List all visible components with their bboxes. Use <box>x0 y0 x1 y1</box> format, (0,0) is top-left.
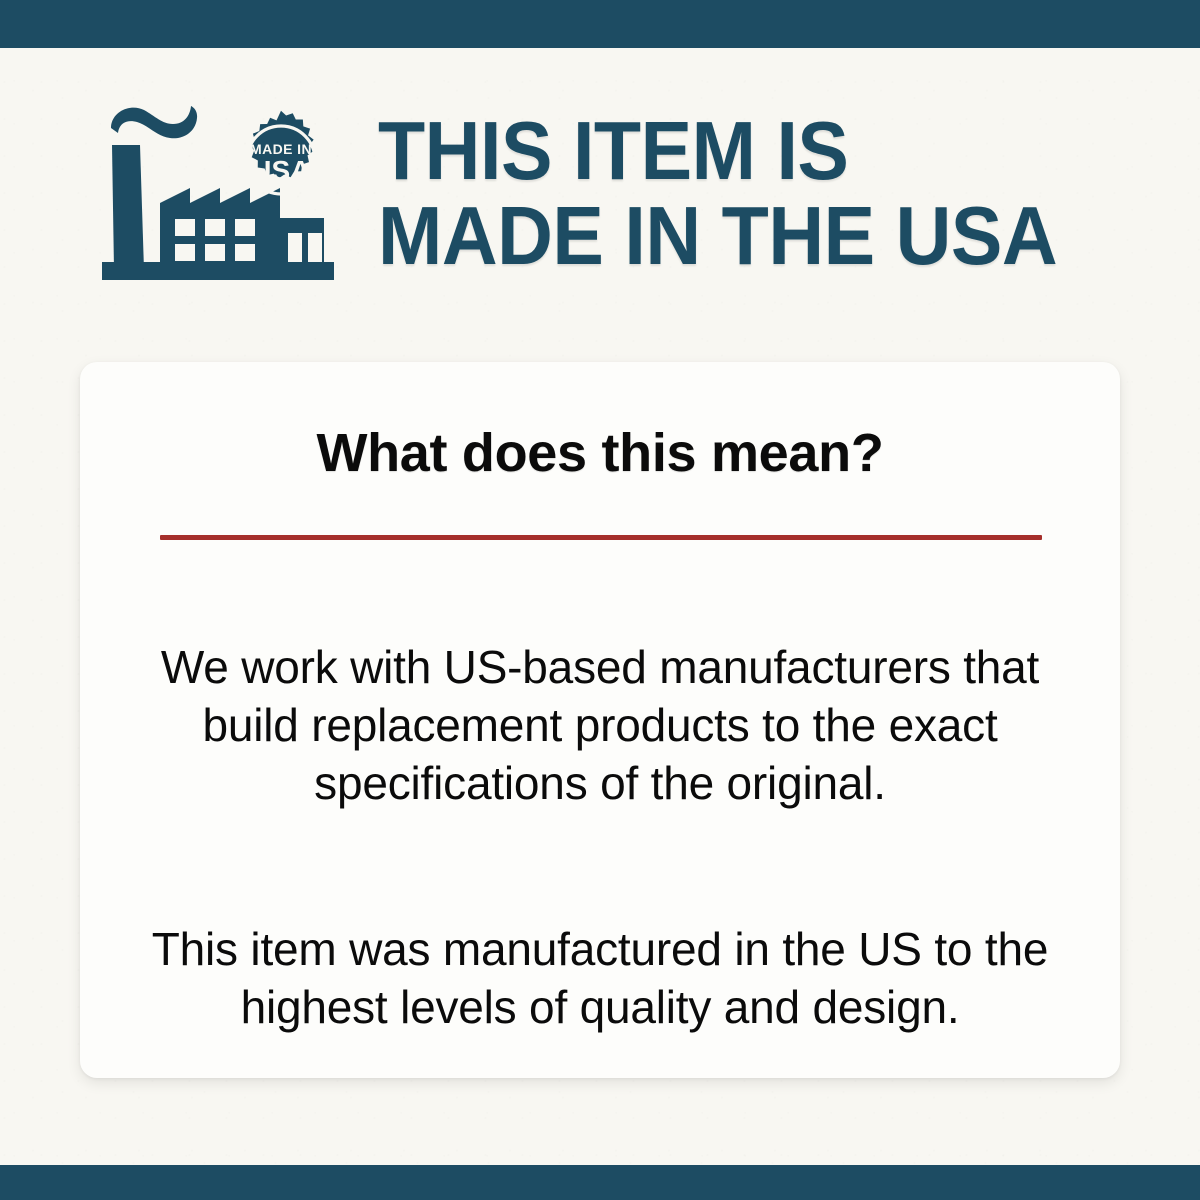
badge-bottom-text: USA <box>251 155 311 186</box>
card-paragraph-2: This item was manufactured in the US to … <box>150 920 1050 1036</box>
made-in-usa-badge-icon: MADE IN USA <box>247 106 317 194</box>
card-divider <box>160 535 1042 540</box>
card-heading: What does this mean? <box>80 424 1120 482</box>
page-title: THIS ITEM IS MADE IN THE USA <box>378 108 1122 278</box>
headline-line-1: THIS ITEM IS <box>378 108 1122 193</box>
headline-line-2: MADE IN THE USA <box>378 193 1122 278</box>
factory-icon: MADE IN USA <box>100 100 340 285</box>
top-accent-bar <box>0 0 1200 48</box>
header: MADE IN USA THIS ITEM IS MADE IN THE USA <box>0 90 1200 290</box>
bottom-accent-bar <box>0 1165 1200 1200</box>
made-in-usa-banner: MADE IN USA THIS ITEM IS MADE IN THE USA… <box>0 0 1200 1200</box>
info-card: What does this mean? We work with US-bas… <box>80 362 1120 1078</box>
card-paragraph-1: We work with US-based manufacturers that… <box>150 638 1050 812</box>
